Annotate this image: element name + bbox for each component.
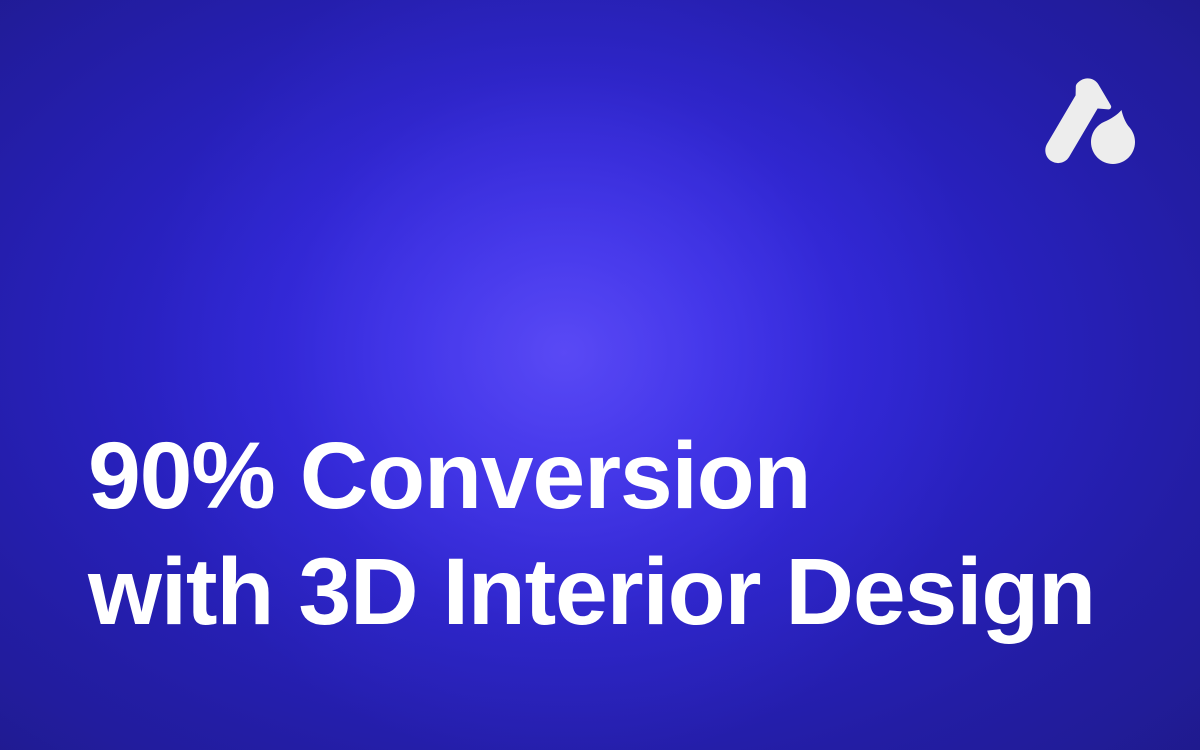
page-title: 90% Conversion with 3D Interior Design [88, 418, 1148, 650]
brand-logo [1034, 78, 1138, 164]
headline-line-1: 90% Conversion [88, 418, 1148, 534]
headline-line-2: with 3D Interior Design [88, 534, 1148, 650]
promo-banner: 90% Conversion with 3D Interior Design [0, 0, 1200, 750]
